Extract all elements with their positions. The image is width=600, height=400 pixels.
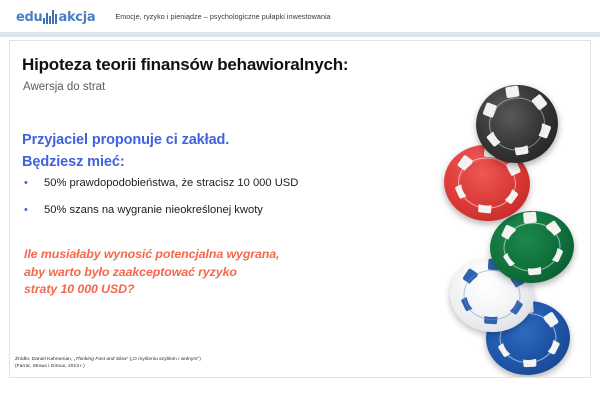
header-divider [0,32,600,37]
logo-text-prefix: edu [16,11,42,24]
bullet-dot-icon: • [24,176,44,190]
bullet-dot-icon: • [24,203,44,217]
list-item: • 50% prawdopodobieństwa, że stracisz 10… [24,176,424,190]
question-line-2: aby warto było zaakceptować ryzyko [24,264,279,282]
list-item-label: 50% szans na wygranie nieokreślonej kwot… [44,203,263,217]
question-line-3: straty 10 000 USD? [24,281,279,299]
highlighted-question: Ile musiałaby wynosić potencjalna wygran… [24,246,279,299]
page-title: Hipoteza teorii finansów behawioralnych: [22,55,348,75]
logo-text-suffix: akcja [58,11,95,24]
page-header: edu akcja Emocje, ryzyko i pieniądze – p… [0,0,600,32]
citation-line-2: (Farrar, Straus i Giroux, 2013 r.) [15,363,201,371]
citation-suffix: " („O myśleniu szybkim i wolnym") [127,357,201,362]
page-subtitle: Awersja do strat [23,81,105,93]
poker-chip-black-icon [470,79,563,169]
citation-book-title: Thinking Fast and Slow [75,357,126,362]
poker-chip-stack-illustration [430,53,591,373]
lead-line-2: Będziesz mieć: [22,151,229,173]
slide-canvas: Hipoteza teorii finansów behawioralnych:… [9,40,591,378]
lead-line-1: Przyjaciel proponuje ci zakład. [22,129,229,151]
slide-page: edu akcja Emocje, ryzyko i pieniądze – p… [0,0,600,400]
citation-line-1: Źródło: Daniel Kahneman, „Thinking Fast … [15,356,201,364]
lead-statement: Przyjaciel proponuje ci zakład. Będziesz… [22,129,229,173]
source-citation: Źródło: Daniel Kahneman, „Thinking Fast … [15,356,201,371]
list-item-label: 50% prawdopodobieństwa, że stracisz 10 0… [44,176,298,190]
question-line-1: Ile musiałaby wynosić potencjalna wygran… [24,246,279,264]
eduakcja-logo: edu akcja [16,8,95,24]
bullet-list: • 50% prawdopodobieństwa, że stracisz 10… [24,176,424,230]
citation-prefix: Źródło: Daniel Kahneman, „ [15,357,75,362]
list-item: • 50% szans na wygranie nieokreślonej kw… [24,203,424,217]
course-subject-line: Emocje, ryzyko i pieniądze – psychologic… [115,12,330,21]
bar-chart-logo-mark-icon [43,10,57,24]
